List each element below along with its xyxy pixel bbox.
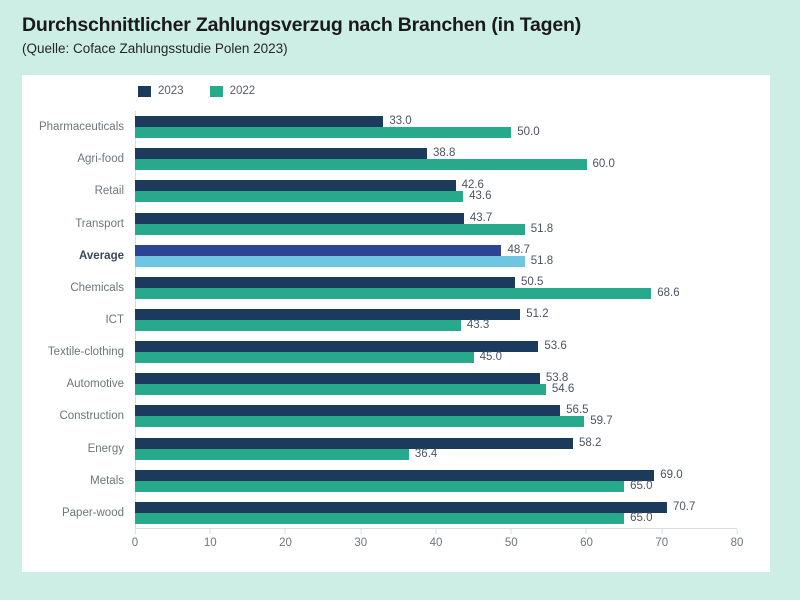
bar-value-label: 48.7 [507,245,529,256]
bar-value-label: 60.0 [593,159,615,170]
bar-2023-retail[interactable] [135,180,456,191]
tick-label: 0 [132,538,138,550]
page-title: Durchschnittlicher Zahlungsverzug nach B… [22,14,772,36]
tick-mark [511,529,512,534]
legend-swatch-2022 [210,86,223,97]
y-axis-label-paper-wood: Paper-wood [62,502,124,524]
bar-2023-chemicals[interactable] [135,277,515,288]
x-axis-tick-50: 50 [505,529,518,550]
x-axis-tick-20: 20 [279,529,292,550]
legend-item-2023[interactable]: 2023 [138,86,184,98]
y-axis-label-pharmaceuticals: Pharmaceuticals [39,116,124,138]
bar-2022-chemicals[interactable] [135,288,651,299]
bar-value-label: 68.6 [657,288,679,299]
page-subtitle: (Quelle: Coface Zahlungsstudie Polen 202… [22,41,772,57]
chart-row: Transport43.751.8 [135,213,737,235]
bar-value-label: 43.6 [469,191,491,202]
bar-value-label: 59.7 [590,416,612,427]
bar-value-label: 51.8 [531,224,553,235]
y-axis-label-chemicals: Chemicals [70,277,124,299]
bar-2022-energy[interactable] [135,449,409,460]
chart-page: Durchschnittlicher Zahlungsverzug nach B… [0,0,800,600]
bar-value-label: 65.0 [630,513,652,524]
tick-mark [736,529,737,534]
tick-label: 50 [505,538,518,550]
y-axis-label-construction: Construction [59,405,124,427]
legend-swatch-2023 [138,86,151,97]
bar-value-label: 38.8 [433,148,455,159]
bar-2023-textile-clothing[interactable] [135,341,538,352]
tick-label: 30 [354,538,367,550]
bar-2022-retail[interactable] [135,191,463,202]
plot-area: Pharmaceuticals33.050.0Agri-food38.860.0… [135,111,737,529]
bar-value-label: 51.2 [526,309,548,320]
bar-2022-pharmaceuticals[interactable] [135,127,511,138]
bar-2022-average[interactable] [135,256,525,267]
tick-label: 10 [204,538,217,550]
bar-value-label: 50.0 [517,127,539,138]
bar-value-label: 33.0 [389,116,411,127]
x-axis-tick-0: 0 [132,529,138,550]
tick-mark [435,529,436,534]
y-axis-label-metals: Metals [90,470,124,492]
chart-row: Agri-food38.860.0 [135,148,737,170]
bar-value-label: 70.7 [673,502,695,513]
tick-mark [586,529,587,534]
bar-2022-agri-food[interactable] [135,159,587,170]
bar-value-label: 69.0 [660,470,682,481]
chart-row: Retail42.643.6 [135,180,737,202]
chart-row: Automotive53.854.6 [135,373,737,395]
chart-row: Average48.751.8 [135,245,737,267]
bar-2023-ict[interactable] [135,309,520,320]
chart-row: Textile-clothing53.645.0 [135,341,737,363]
x-axis-tick-40: 40 [430,529,443,550]
chart-row: Paper-wood70.765.0 [135,502,737,524]
tick-label: 70 [655,538,668,550]
y-axis-label-automotive: Automotive [66,373,124,395]
legend-item-2022[interactable]: 2022 [210,86,256,98]
bar-2022-construction[interactable] [135,416,584,427]
y-axis-label-agri-food: Agri-food [77,148,124,170]
bar-2022-metals[interactable] [135,481,624,492]
bar-value-label: 53.6 [544,341,566,352]
bar-2022-transport[interactable] [135,224,525,235]
legend-label: 2022 [230,86,256,98]
chart-row: Metals69.065.0 [135,470,737,492]
bar-2023-agri-food[interactable] [135,148,427,159]
bar-2023-energy[interactable] [135,438,573,449]
tick-label: 60 [580,538,593,550]
tick-mark [661,529,662,534]
y-axis-label-ict: ICT [105,309,124,331]
bar-value-label: 51.8 [531,256,553,267]
bar-2023-average[interactable] [135,245,501,256]
chart-legend: 20232022 [138,86,255,98]
tick-label: 80 [731,538,744,550]
bar-value-label: 36.4 [415,449,437,460]
chart-card: 20232022 Pharmaceuticals33.050.0Agri-foo… [22,75,770,572]
x-axis-tick-60: 60 [580,529,593,550]
bar-2022-ict[interactable] [135,320,461,331]
x-axis-tick-10: 10 [204,529,217,550]
bar-2023-construction[interactable] [135,405,560,416]
bar-2022-paper-wood[interactable] [135,513,624,524]
bar-value-label: 56.5 [566,405,588,416]
bar-2023-metals[interactable] [135,470,654,481]
legend-label: 2023 [158,86,184,98]
bar-value-label: 45.0 [480,352,502,363]
bar-2023-automotive[interactable] [135,373,540,384]
tick-label: 20 [279,538,292,550]
tick-mark [360,529,361,534]
bar-value-label: 54.6 [552,384,574,395]
bar-2022-textile-clothing[interactable] [135,352,474,363]
bar-2022-automotive[interactable] [135,384,546,395]
tick-label: 40 [430,538,443,550]
y-axis-label-transport: Transport [75,213,124,235]
chart-row: Chemicals50.568.6 [135,277,737,299]
y-axis-label-retail: Retail [95,180,124,202]
bar-value-label: 50.5 [521,277,543,288]
x-axis-tick-30: 30 [354,529,367,550]
bar-2023-paper-wood[interactable] [135,502,667,513]
chart-row: Energy58.236.4 [135,438,737,460]
chart-row: Pharmaceuticals33.050.0 [135,116,737,138]
tick-mark [135,529,136,534]
tick-mark [285,529,286,534]
bar-value-label: 43.3 [467,320,489,331]
bar-value-label: 58.2 [579,438,601,449]
y-axis-label-average: Average [79,245,124,267]
x-axis-ticks: 01020304050607080 [135,529,737,557]
bar-value-label: 65.0 [630,481,652,492]
chart-row: ICT51.243.3 [135,309,737,331]
bar-2023-pharmaceuticals[interactable] [135,116,383,127]
chart-row: Construction56.559.7 [135,405,737,427]
bar-value-label: 43.7 [470,213,492,224]
bar-2023-transport[interactable] [135,213,464,224]
y-axis-label-energy: Energy [88,438,124,460]
x-axis-tick-70: 70 [655,529,668,550]
y-axis-label-textile-clothing: Textile-clothing [48,341,124,363]
x-axis-tick-80: 80 [731,529,744,550]
chart-heading: Durchschnittlicher Zahlungsverzug nach B… [22,14,772,58]
tick-mark [210,529,211,534]
